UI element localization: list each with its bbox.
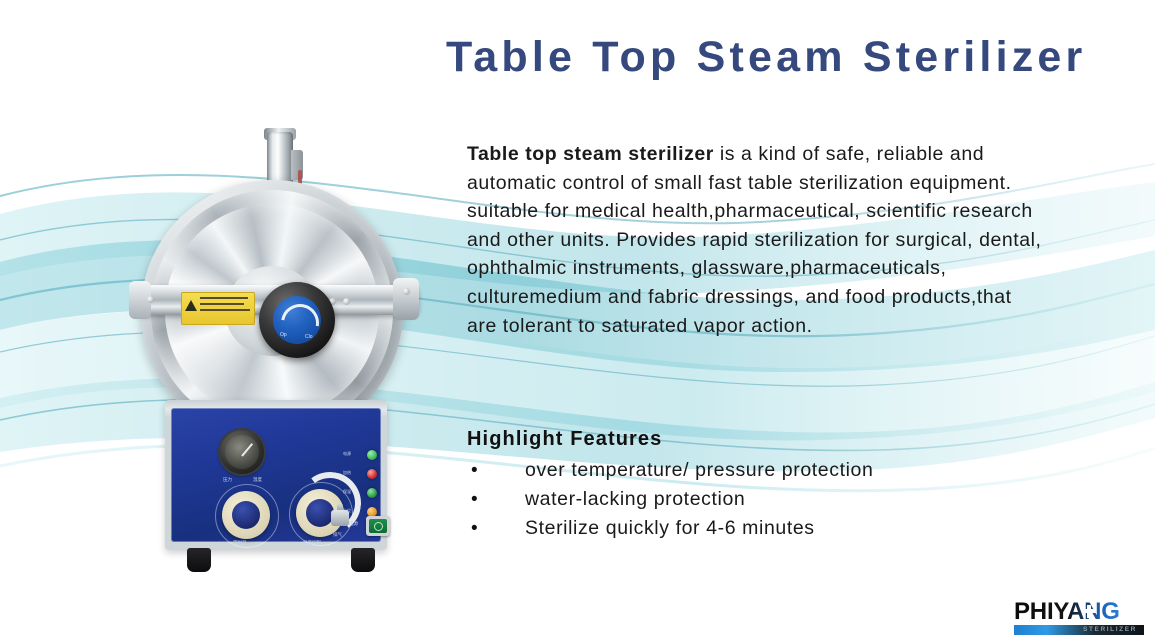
list-item: • Sterilize quickly for 4-6 minutes: [467, 514, 1067, 543]
warning-sticker: [181, 292, 255, 325]
pressure-gauge-face: [225, 435, 259, 469]
power-lamp: [367, 450, 377, 460]
feature-label: water-lacking protection: [525, 488, 745, 510]
slide-canvas: Op Clo 压力 温度 定时器 温度控制 排气 电源 加热 保温 水位 电源: [0, 0, 1155, 644]
product-image: Op Clo 压力 温度 定时器 温度控制 排气 电源 加热 保温 水位 电源: [55, 60, 415, 530]
features-heading: Highlight Features: [467, 428, 662, 451]
cabinet-foot: [187, 548, 211, 572]
description-lead: Table top steam sterilizer: [467, 143, 714, 165]
cabinet-foot: [351, 548, 375, 572]
brand-subtitle: STERILIZER: [1076, 625, 1144, 635]
sterilize-lamp-label: 保温: [343, 489, 351, 495]
power-lamp-label: 电源: [343, 451, 351, 457]
handle-bolt: [403, 288, 410, 295]
gauge-left-label: 压力: [223, 477, 232, 483]
gauge-right-label: 温度: [253, 477, 262, 483]
knob-open-label: Op: [280, 332, 287, 338]
feature-label: over temperature/ pressure protection: [525, 459, 873, 481]
timer-dial-core: [232, 501, 260, 529]
sterilize-lamp: [367, 488, 377, 498]
power-switch-label: 电源: [349, 521, 358, 527]
handle-bolt: [343, 298, 350, 305]
medical-cross-icon: [1082, 609, 1096, 613]
lid-handle-right-end: [393, 278, 419, 320]
power-icon: [374, 522, 383, 531]
heating-lamp-label: 加热: [343, 470, 351, 476]
warning-triangle-icon: [185, 300, 197, 311]
temp-dial-core: [306, 499, 334, 527]
list-item: • water-lacking protection: [467, 485, 1067, 514]
knob-close-label: Clo: [305, 334, 313, 340]
alarm-lamp-label: 水位: [343, 508, 351, 514]
bullet-icon: •: [471, 514, 478, 543]
bullet-icon: •: [471, 456, 478, 485]
feature-label: Sterilize quickly for 4-6 minutes: [525, 517, 815, 539]
handle-bolt: [147, 296, 154, 303]
page-title: Table Top Steam Sterilizer: [446, 36, 1146, 79]
brand-name: PHIYANG: [1014, 600, 1144, 623]
bullet-icon: •: [471, 485, 478, 514]
exhaust-valve-label: 排气: [333, 532, 342, 538]
temp-dial-label: 温度控制: [303, 540, 321, 546]
description-rest: is a kind of safe, reliable and automati…: [467, 143, 1041, 337]
brand-logo: PHIYANG STERILIZER: [1014, 600, 1144, 636]
product-description: Table top steam sterilizer is a kind of …: [467, 140, 1042, 340]
warning-text-lines: [200, 297, 250, 315]
list-item: • over temperature/ pressure protection: [467, 456, 1067, 485]
features-list: • over temperature/ pressure protection …: [467, 456, 1067, 543]
heating-lamp: [367, 469, 377, 479]
timer-dial-label: 定时器: [233, 540, 247, 546]
